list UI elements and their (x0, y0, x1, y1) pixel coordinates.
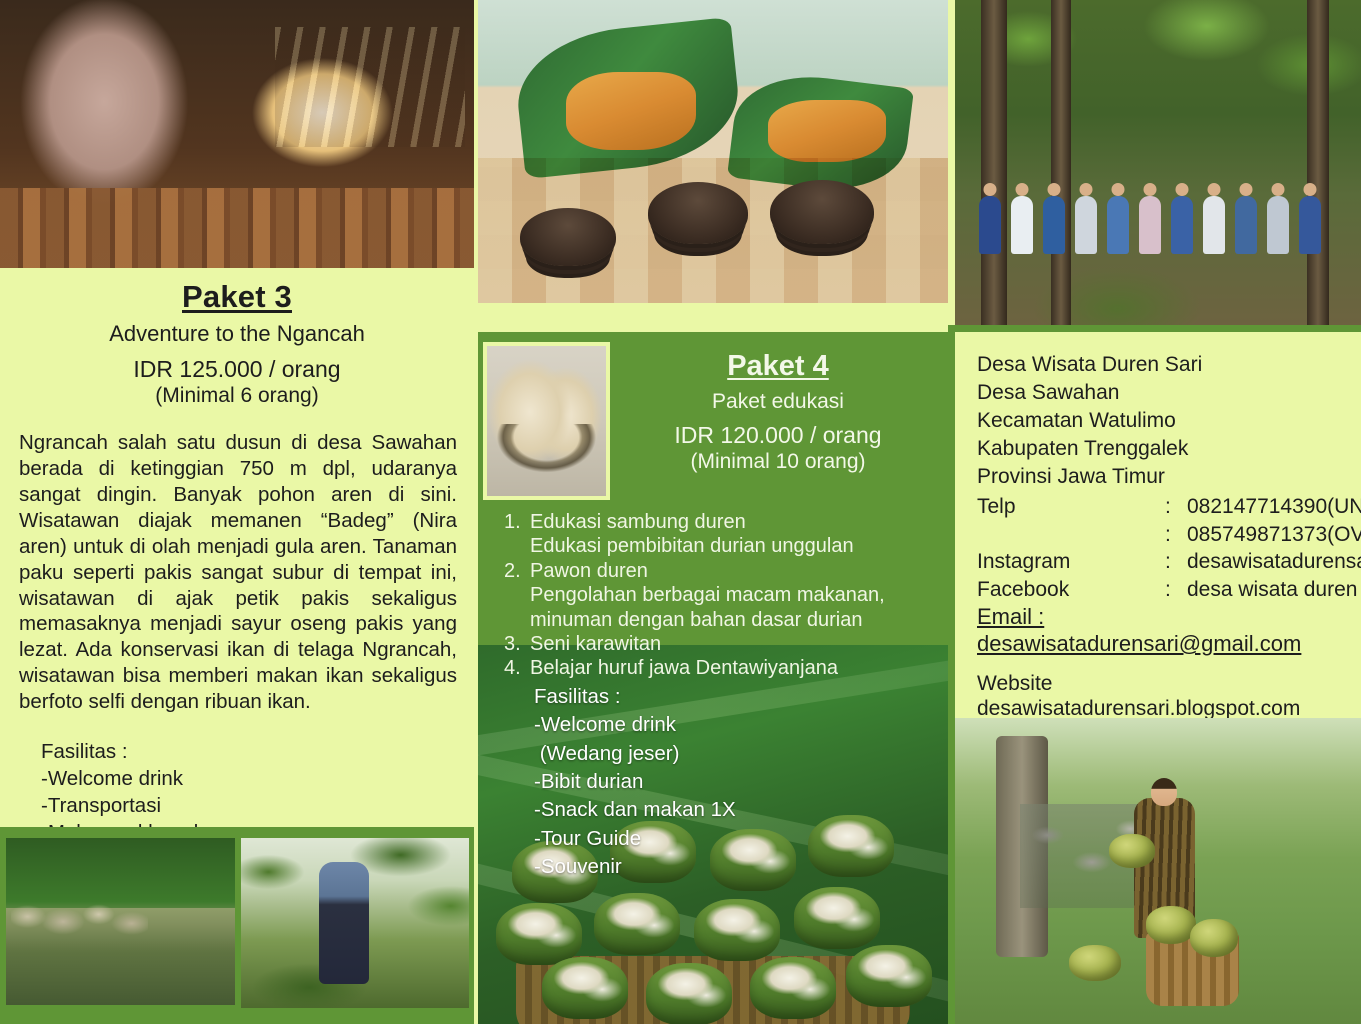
jenang-cake (566, 72, 696, 150)
facility-item: -Snack dan makan 1X (534, 797, 874, 822)
brochure-page: Paket 3 Adventure to the Ngancah IDR 125… (0, 0, 1361, 1024)
food-bundle (750, 957, 836, 1019)
palm-sugar-pouring-photo (0, 0, 474, 268)
activity-line: Pawon duren (530, 559, 934, 583)
facility-item: -Souvenir (534, 854, 874, 879)
activity-item: 1. Edukasi sambung duren Edukasi pembibi… (504, 510, 934, 559)
activity-number: 1. (504, 510, 530, 559)
paket3-facilities-heading: Fasilitas : (41, 739, 474, 764)
durian-fruit (1069, 945, 1121, 981)
activity-number: 4. (504, 656, 530, 680)
contact-value[interactable]: desawisatadurensari (1187, 548, 1361, 576)
durian-fruit (1109, 834, 1155, 868)
website-heading: Website (977, 672, 1300, 696)
facility-item: -Welcome drink (534, 712, 874, 737)
food-bundle (594, 893, 680, 955)
contact-colon: : (1165, 548, 1187, 576)
clay-bowl-stack (770, 180, 874, 244)
activity-item: 2. Pawon duren Pengolahan berbagai macam… (504, 559, 934, 632)
paket4-facilities-heading: Fasilitas : (534, 684, 874, 709)
paket3-title: Paket 3 (0, 279, 474, 315)
person (1011, 196, 1033, 254)
contact-colon: : (1165, 493, 1187, 521)
email-address[interactable]: desawisatadurensari@gmail.com (977, 631, 1301, 657)
group-tour-forest-photo (955, 0, 1361, 325)
contact-row-facebook: Facebook : desa wisata duren sari (977, 576, 1361, 604)
contact-row-telp: Telp : 082147714390(UNTUK) (977, 493, 1361, 521)
paket3-description: Ngrancah salah satu dusun di desa Sawaha… (19, 430, 457, 715)
paket3-photo-band (0, 827, 474, 1024)
contact-label: Instagram (977, 548, 1165, 576)
activity-line: Edukasi sambung duren (530, 510, 934, 534)
jenang-cake (768, 100, 886, 162)
activity-lines: Pawon duren Pengolahan berbagai macam ma… (530, 559, 934, 632)
paket3-subtitle: Adventure to the Ngancah (0, 321, 474, 347)
paket4-panel: Paket 4 Paket edukasi IDR 120.000 / oran… (478, 332, 948, 1024)
facility-item: (Wedang jeser) (534, 741, 874, 766)
person (1107, 196, 1129, 254)
paket3-minimum: (Minimal 6 orang) (0, 384, 474, 408)
activity-line: Seni karawitan (530, 632, 934, 656)
email-heading: Email : (977, 604, 1301, 630)
contact-row-telp-2: : 085749871373(OVAL) (977, 521, 1361, 549)
person (1075, 196, 1097, 254)
person (1171, 196, 1193, 254)
activity-lines: Edukasi sambung duren Edukasi pembibitan… (530, 510, 934, 559)
contact-value[interactable]: desa wisata duren sari (1187, 576, 1361, 604)
activity-line: Edukasi pembibitan durian unggulan (530, 534, 934, 558)
contact-row-instagram: Instagram : desawisatadurensari (977, 548, 1361, 576)
activity-lines: Belajar huruf jawa Dentawiyanjana (530, 656, 934, 680)
contact-value[interactable]: 082147714390(UNTUK) (1187, 493, 1361, 521)
activity-lines: Seni karawitan (530, 632, 934, 656)
activity-item: 3. Seni karawitan (504, 632, 934, 656)
address-line: Provinsi Jawa Timur (977, 463, 1361, 491)
photo-texture (0, 0, 474, 268)
activity-line: Belajar huruf jawa Dentawiyanjana (530, 656, 934, 680)
contact-label: Facebook (977, 576, 1165, 604)
food-bundle (496, 903, 582, 965)
facility-item: -Bibit durian (534, 769, 874, 794)
address-line: Kabupaten Trenggalek (977, 435, 1361, 463)
durian-fruit (1190, 919, 1238, 957)
facility-item: -Tour Guide (534, 826, 874, 851)
aren-tree-climbing-photo (241, 838, 469, 1008)
contact-panel: Desa Wisata Duren Sari Desa Sawahan Keca… (955, 332, 1361, 718)
facility-item: -Welcome drink (41, 766, 474, 791)
person (1139, 196, 1161, 254)
person (1043, 196, 1065, 254)
food-bundle (794, 887, 880, 949)
paket3-price: IDR 125.000 / orang (0, 356, 474, 383)
woman-with-durians-river-photo (955, 718, 1361, 1024)
activity-line: Pengolahan berbagai macam makanan, (530, 583, 934, 607)
activity-number: 2. (504, 559, 530, 632)
contact-value[interactable]: 085749871373(OVAL) (1187, 521, 1361, 549)
address-line: Desa Sawahan (977, 379, 1361, 407)
paket4-facilities: Fasilitas : -Welcome drink (Wedang jeser… (534, 684, 874, 879)
contact-label (977, 521, 1165, 549)
person (1299, 196, 1321, 254)
person (1235, 196, 1257, 254)
contact-colon: : (1165, 521, 1187, 549)
tour-group (971, 124, 1345, 254)
food-bundle (846, 945, 932, 1007)
activity-item: 4. Belajar huruf jawa Dentawiyanjana (504, 656, 934, 680)
food-bundle (694, 899, 780, 961)
website-url[interactable]: desawisatadurensari.blogspot.com (977, 697, 1300, 718)
ngrancah-lake-photo (6, 838, 235, 1005)
clay-bowl-stack (648, 182, 748, 244)
food-bundle (646, 963, 732, 1024)
clay-bowl-stack (520, 208, 616, 266)
paket4-subtitle: Paket edukasi (618, 390, 938, 414)
climbing-person (319, 862, 369, 984)
paket4-title: Paket 4 (618, 350, 938, 383)
jenang-banana-leaf-bowls-photo (478, 0, 948, 303)
address-line: Desa Wisata Duren Sari (977, 351, 1361, 379)
paket4-price: IDR 120.000 / orang (618, 422, 938, 449)
activity-number: 3. (504, 632, 530, 656)
durian-fruit (1146, 906, 1196, 944)
activity-line: minuman dengan bahan dasar durian (530, 608, 934, 632)
contact-label: Telp (977, 493, 1165, 521)
person (1267, 196, 1289, 254)
paket4-minimum: (Minimal 10 orang) (618, 450, 938, 474)
durian-thumb-frame (483, 342, 610, 500)
contact-colon: : (1165, 576, 1187, 604)
opened-durian-fruit-photo (487, 346, 606, 496)
person (979, 196, 1001, 254)
person (1203, 196, 1225, 254)
paket4-activities: 1. Edukasi sambung duren Edukasi pembibi… (504, 510, 934, 681)
facility-item: -Transportasi (41, 793, 474, 818)
address-line: Kecamatan Watulimo (977, 407, 1361, 435)
food-bundle (542, 957, 628, 1019)
